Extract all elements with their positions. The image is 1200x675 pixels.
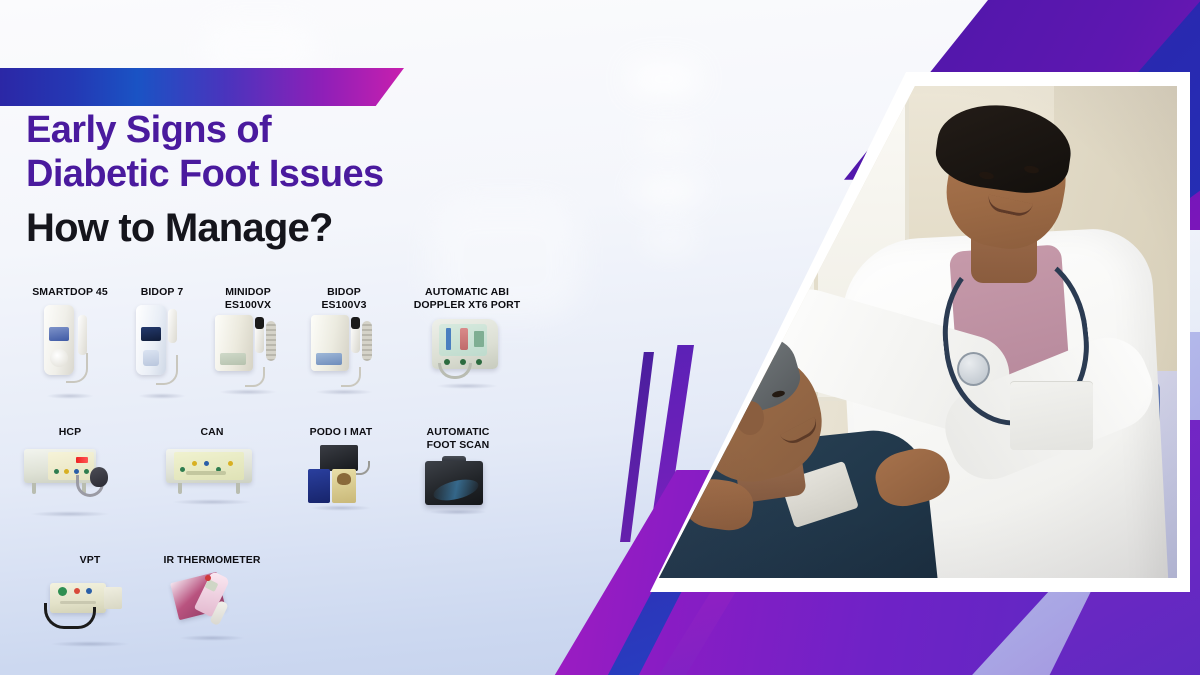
product-item-bidop-7[interactable]: BIDOP 7	[122, 286, 202, 397]
background-blur-shape	[636, 176, 700, 206]
headline-block: Early Signs of Diabetic Foot Issues How …	[26, 108, 566, 254]
benchtop-instrument-icon	[166, 449, 258, 519]
desktop-doppler-icon	[215, 313, 281, 393]
photo-vignette	[619, 86, 1177, 578]
product-label: AUTOMATIC ABI DOPPLER XT6 PORT	[392, 286, 542, 311]
product-label: IR THERMOMETER	[150, 554, 274, 567]
product-item-smartdop-45[interactable]: SMARTDOP 45	[18, 286, 122, 397]
product-label: MINIDOP ES100VX	[196, 286, 300, 311]
background-blur-shape	[640, 126, 696, 152]
abi-doppler-icon	[432, 319, 502, 387]
product-row: HCP CAN	[0, 426, 600, 554]
product-item-can[interactable]: CAN	[160, 426, 264, 519]
product-row: SMARTDOP 45 BIDOP 7	[0, 286, 600, 426]
product-item-automatic-foot-scan[interactable]: AUTOMATIC FOOT SCAN	[398, 426, 518, 517]
product-item-minidop-es100vx[interactable]: MINIDOP ES100VX	[196, 286, 300, 393]
banner-canvas: Early Signs of Diabetic Foot Issues How …	[0, 0, 1200, 675]
foot-scanner-icon	[425, 461, 491, 517]
handheld-doppler-icon	[44, 305, 96, 397]
headline-line-2: Diabetic Foot Issues	[26, 152, 566, 196]
vpt-device-icon	[44, 577, 136, 647]
product-label: BIDOP 7	[122, 286, 202, 299]
headline-question: How to Manage?	[26, 202, 566, 254]
ir-thermometer-icon	[174, 573, 250, 639]
product-label: HCP	[22, 426, 118, 439]
background-blur-shape	[628, 62, 700, 96]
benchtop-instrument-icon	[24, 449, 116, 519]
product-item-podo-i-mat[interactable]: PODO i MAT	[288, 426, 394, 507]
gradient-ribbon	[0, 68, 404, 106]
product-label: VPT	[40, 554, 140, 567]
product-label: BIDOP ES100V3	[294, 286, 394, 311]
product-grid: SMARTDOP 45 BIDOP 7	[0, 286, 600, 674]
product-item-automatic-abi-doppler-xt6-port[interactable]: AUTOMATIC ABI DOPPLER XT6 PORT	[392, 286, 542, 387]
background-blur-shape	[646, 226, 694, 252]
product-label: CAN	[160, 426, 264, 439]
product-item-ir-thermometer[interactable]: IR THERMOMETER	[150, 554, 274, 639]
product-label: PODO i MAT	[288, 426, 394, 439]
product-row: VPT IR THERMOMETER	[0, 554, 600, 674]
product-item-bidop-es100v3[interactable]: BIDOP ES100V3	[294, 286, 394, 393]
product-item-hcp[interactable]: HCP	[22, 426, 118, 519]
podiatry-mat-icon	[306, 445, 376, 507]
product-label: SMARTDOP 45	[18, 286, 122, 299]
handheld-doppler-icon	[136, 305, 188, 397]
purple-accent-stripe	[620, 352, 654, 542]
hero-photo	[619, 86, 1177, 578]
headline-line-1: Early Signs of	[26, 108, 566, 152]
product-item-vpt[interactable]: VPT	[40, 554, 140, 647]
desktop-doppler-icon	[311, 313, 377, 393]
product-label: AUTOMATIC FOOT SCAN	[398, 426, 518, 451]
